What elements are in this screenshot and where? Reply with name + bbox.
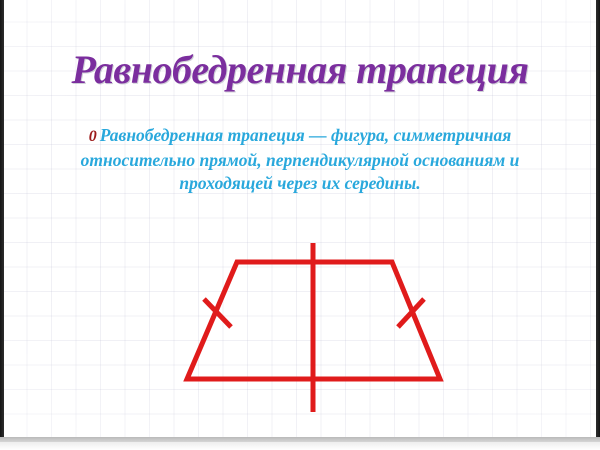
definition-line-4: через их середины. [277,173,420,193]
slide-title: Равнобедренная трапеция [0,46,600,93]
bullet-marker: 0 [89,128,97,145]
definition-line-1: Равнобедренная трапеция — фигура, [100,125,389,145]
definition-text-block: 0Равнобедренная трапеция — фигура, симме… [60,124,540,196]
slide-bottom-glow [0,442,600,450]
slide-canvas: Равнобедренная трапеция 0Равнобедренная … [0,0,600,450]
